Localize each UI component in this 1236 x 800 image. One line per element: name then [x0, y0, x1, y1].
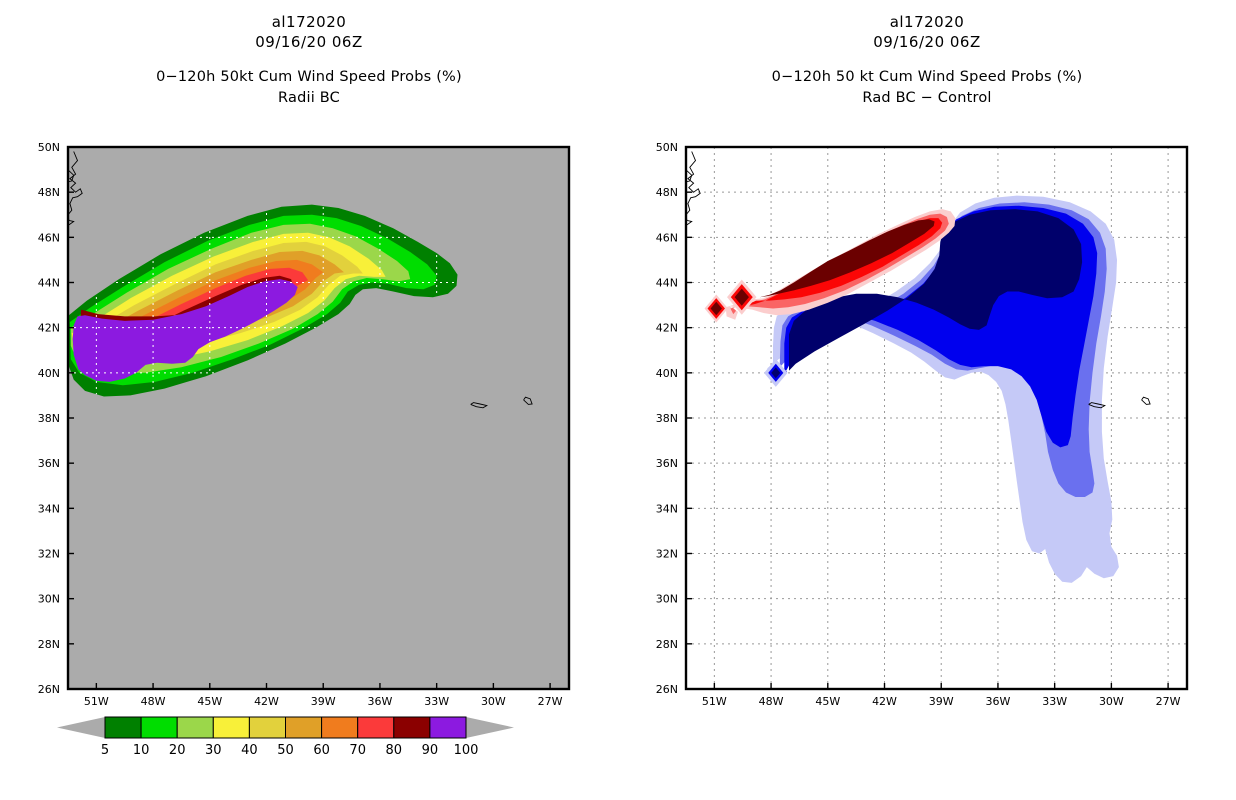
- colorbar-over-cap: [466, 717, 514, 738]
- colorbar-band-6: [322, 717, 358, 738]
- y-tick-label: 40N: [38, 367, 60, 380]
- x-tick-label: 51W: [702, 695, 727, 708]
- plot-background: [68, 147, 569, 689]
- y-tick-label: 46N: [38, 231, 60, 244]
- colorbar-under-cap: [57, 717, 105, 738]
- contour-band--10: [789, 209, 1082, 371]
- contour-band--3: [777, 202, 1107, 497]
- x-tick-label: 30W: [1099, 695, 1124, 708]
- y-tick-label: 32N: [656, 548, 678, 561]
- panel-left-datetime: 09/16/20 06Z: [0, 32, 618, 52]
- contour-band-1: [726, 209, 956, 320]
- x-tick-label: 27W: [1156, 695, 1181, 708]
- y-tick-label: 38N: [38, 412, 60, 425]
- colorbar-band-1: [141, 717, 177, 738]
- panel-left-titles: al172020 09/16/20 06Z 0−120h 50kt Cum Wi…: [0, 0, 618, 108]
- y-tick-label: 48N: [656, 186, 678, 199]
- y-tick-label: 42N: [38, 322, 60, 335]
- coastline: [68, 171, 74, 182]
- y-tick-label: 30N: [38, 593, 60, 606]
- contour-blob: [708, 298, 725, 319]
- y-tick-label: 30N: [656, 593, 678, 606]
- coastline: [686, 171, 692, 182]
- colorbar-band-5: [286, 717, 322, 738]
- contour-band-80: [77, 276, 294, 360]
- contour-band-30: [72, 233, 386, 362]
- panel-radii-bc: al172020 09/16/20 06Z 0−120h 50kt Cum Wi…: [0, 0, 618, 800]
- colorbar-band-0: [105, 717, 141, 738]
- panel-right-main-title: 0−120h 50 kt Cum Wind Speed Probs (%): [618, 66, 1236, 88]
- coastline: [471, 403, 487, 408]
- x-tick-label: 42W: [254, 695, 279, 708]
- contour-band-5: [745, 218, 943, 306]
- colorbar-tick-label: 80: [386, 743, 403, 758]
- panel-right-datetime: 09/16/20 06Z: [618, 32, 1236, 52]
- contour-band-20: [71, 224, 410, 373]
- y-tick-label: 34N: [38, 502, 60, 515]
- contour-blob: [764, 359, 787, 387]
- contour-band-60: [75, 260, 324, 348]
- colorbar-tick-label: 50: [277, 743, 294, 758]
- contour-band-10: [760, 219, 935, 297]
- y-tick-label: 28N: [38, 638, 60, 651]
- contour-band-70: [76, 268, 309, 353]
- y-tick-label: 44N: [656, 277, 678, 290]
- y-tick-label: 38N: [656, 412, 678, 425]
- y-tick-label: 26N: [38, 683, 60, 696]
- x-tick-label: 39W: [311, 695, 336, 708]
- y-tick-label: 46N: [656, 231, 678, 244]
- x-tick-label: 42W: [872, 695, 897, 708]
- x-tick-label: 33W: [1042, 695, 1067, 708]
- y-tick-label: 44N: [38, 277, 60, 290]
- contour-blob: [771, 367, 780, 378]
- coastline: [1142, 397, 1151, 404]
- colorbar-tick-label: 60: [313, 743, 330, 758]
- coastline: [1089, 403, 1105, 408]
- y-tick-label: 50N: [38, 141, 60, 154]
- x-tick-label: 27W: [538, 695, 563, 708]
- contour-blob: [705, 294, 728, 322]
- colorbar: 5102030405060708090100: [57, 717, 514, 758]
- x-tick-label: 45W: [815, 695, 840, 708]
- colorbar-tick-label: 30: [205, 743, 222, 758]
- contour-blob: [768, 364, 783, 382]
- contour-blob: [727, 280, 756, 315]
- panel-left-storm-id: al172020: [0, 12, 618, 32]
- contour-blob: [731, 284, 753, 310]
- y-tick-label: 28N: [656, 638, 678, 651]
- y-tick-label: 50N: [656, 141, 678, 154]
- panel-right-sub-title: Rad BC − Control: [618, 88, 1236, 108]
- coastline: [686, 152, 700, 225]
- contour-band-100: [73, 279, 298, 382]
- colorbar-band-2: [177, 717, 213, 738]
- y-tick-label: 36N: [38, 457, 60, 470]
- colorbar-tick-label: 100: [454, 743, 479, 758]
- y-tick-label: 42N: [656, 322, 678, 335]
- colorbar-tick-label: 20: [169, 743, 186, 758]
- contour-band--1: [767, 196, 1119, 583]
- x-tick-label: 36W: [986, 695, 1011, 708]
- contour-blob: [735, 289, 749, 306]
- colorbar-tick-label: 10: [133, 743, 150, 758]
- x-tick-label: 51W: [84, 695, 109, 708]
- colorbar-tick-label: 70: [349, 743, 366, 758]
- y-tick-label: 48N: [38, 186, 60, 199]
- panel-right-plot-area: 26N28N30N32N34N36N38N40N42N44N46N48N50N5…: [618, 0, 1236, 800]
- colorbar-tick-label: 40: [241, 743, 258, 758]
- colorbar-band-4: [249, 717, 285, 738]
- colorbar-band-3: [213, 717, 249, 738]
- colorbar-band-9: [430, 717, 466, 738]
- x-tick-label: 36W: [368, 695, 393, 708]
- x-tick-label: 33W: [424, 695, 449, 708]
- contour-band-40: [73, 242, 363, 349]
- x-tick-label: 39W: [929, 695, 954, 708]
- plot-frame: [68, 147, 569, 689]
- contour-blob: [711, 302, 722, 316]
- colorbar-band-8: [394, 717, 430, 738]
- panel-left-main-title: 0−120h 50kt Cum Wind Speed Probs (%): [0, 66, 618, 88]
- y-tick-label: 40N: [656, 367, 678, 380]
- coastline: [524, 397, 533, 404]
- panel-rad-bc-minus-control: al172020 09/16/20 06Z 0−120h 50 kt Cum W…: [618, 0, 1236, 800]
- colorbar-band-7: [358, 717, 394, 738]
- contour-band-50: [74, 251, 344, 344]
- plot-frame: [686, 147, 1187, 689]
- y-tick-label: 34N: [656, 502, 678, 515]
- x-tick-label: 30W: [481, 695, 506, 708]
- x-tick-label: 45W: [197, 695, 222, 708]
- plot-background: [686, 147, 1187, 689]
- panel-left-sub-title: Radii BC: [0, 88, 618, 108]
- y-tick-label: 26N: [656, 683, 678, 696]
- colorbar-tick-label: 5: [101, 743, 109, 758]
- coastline: [68, 152, 82, 225]
- panel-left-plot-area: 26N28N30N32N34N36N38N40N42N44N46N48N50N5…: [0, 0, 618, 800]
- contour-band-5: [69, 205, 458, 397]
- colorbar-tick-label: 90: [422, 743, 439, 758]
- contour-band-3: [730, 214, 948, 315]
- y-tick-label: 32N: [38, 548, 60, 561]
- y-tick-label: 36N: [656, 457, 678, 470]
- panel-right-storm-id: al172020: [618, 12, 1236, 32]
- panel-right-titles: al172020 09/16/20 06Z 0−120h 50 kt Cum W…: [618, 0, 1236, 108]
- x-tick-label: 48W: [141, 695, 166, 708]
- contour-band-10: [70, 215, 437, 385]
- contour-band--5: [784, 206, 1097, 448]
- x-tick-label: 48W: [759, 695, 784, 708]
